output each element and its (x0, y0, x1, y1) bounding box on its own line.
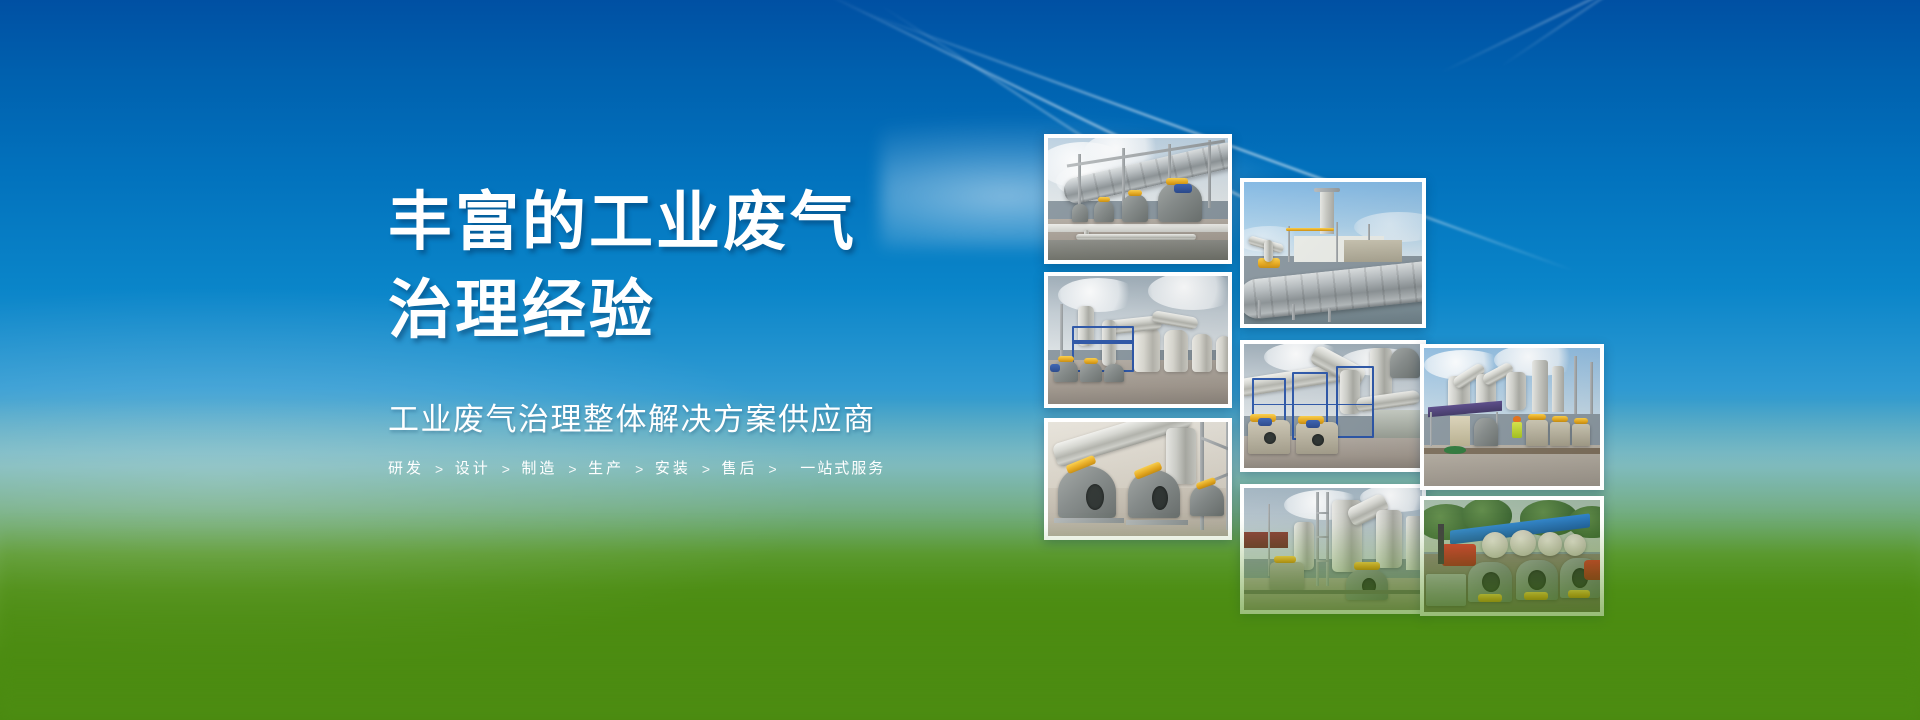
photo-plant-overview[interactable] (1240, 484, 1426, 614)
contrail-streak-icon (1499, 0, 1666, 68)
process-step-zhizao: 制造 (521, 456, 557, 482)
photo-image (1244, 344, 1422, 468)
hero-headline-line1: 丰富的工业废气 (388, 178, 1008, 266)
breadcrumb-separator-icon: > (502, 456, 511, 482)
photo-image (1048, 276, 1228, 404)
photo-fan-shipment[interactable] (1420, 496, 1604, 616)
photo-image (1244, 488, 1422, 610)
process-step-sheji: 设计 (455, 456, 491, 482)
process-step-onestop: 一站式服务 (800, 456, 885, 482)
photo-site-installation[interactable] (1420, 344, 1604, 490)
hero-copy-block: 丰富的工业废气 治理经验 工业废气治理整体解决方案供应商 研发 > 设计 > 制… (388, 178, 1008, 482)
process-step-shengchan: 生产 (588, 456, 624, 482)
process-step-shouhou: 售后 (722, 456, 758, 482)
breadcrumb-separator-icon: > (435, 456, 444, 482)
photo-scrubber-towers[interactable] (1044, 272, 1232, 408)
photo-duct-gallery[interactable] (1240, 340, 1426, 472)
photo-image (1244, 182, 1422, 324)
photo-image (1048, 422, 1228, 536)
photo-centrifugal-fans[interactable] (1044, 418, 1232, 540)
photo-image (1424, 500, 1600, 612)
breadcrumb-separator-icon: > (702, 456, 711, 482)
photo-image (1424, 348, 1600, 486)
hero-headline-line2: 治理经验 (388, 266, 1008, 354)
contrail-streak-icon (1440, 0, 1711, 74)
process-step-yanfa: 研发 (388, 456, 424, 482)
photo-image (1048, 138, 1228, 260)
breadcrumb-separator-icon: > (635, 456, 644, 482)
hero-banner: 丰富的工业废气 治理经验 工业废气治理整体解决方案供应商 研发 > 设计 > 制… (0, 0, 1920, 720)
breadcrumb-separator-icon: > (568, 456, 577, 482)
hero-subheadline: 工业废气治理整体解决方案供应商 (388, 398, 1008, 442)
process-step-anzhuang: 安装 (655, 456, 691, 482)
breadcrumb-separator-icon: > (769, 456, 778, 482)
ground-blur (0, 520, 1920, 720)
process-breadcrumb: 研发 > 设计 > 制造 > 生产 > 安装 > 售后 > 一站式服务 (388, 456, 1008, 482)
photo-rto-unit[interactable] (1240, 178, 1426, 328)
photo-pipeline-rack[interactable] (1044, 134, 1232, 264)
